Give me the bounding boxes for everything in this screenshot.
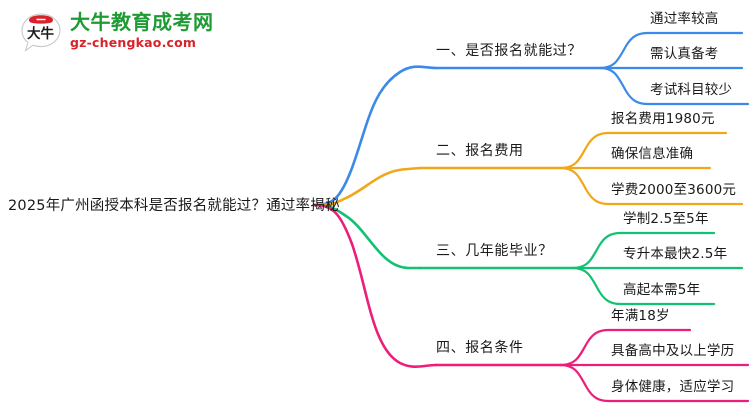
- leaf-node-1-2[interactable]: 需认真备考: [650, 45, 719, 64]
- branch-1-leaf-1-wire: [600, 33, 648, 68]
- branch-1-trunk: [314, 67, 436, 205]
- leaf-node-2-2[interactable]: 确保信息准确: [611, 145, 693, 164]
- branch-3-leaf-3-wire: [572, 268, 621, 304]
- leaf-node-4-2[interactable]: 具备高中及以上学历: [611, 342, 734, 361]
- logo-title-cn: 大牛教育成考网: [70, 9, 250, 35]
- site-logo[interactable]: 大牛 大牛教育成考网 gz-chengkao.com: [18, 8, 248, 60]
- branch-node-2[interactable]: 二、报名费用: [436, 141, 524, 161]
- leaf-node-1-3[interactable]: 考试科目较少: [650, 81, 732, 100]
- leaf-node-4-3[interactable]: 身体健康，适应学习: [611, 378, 734, 397]
- branch-3-leaf-1-wire: [572, 233, 621, 268]
- leaf-node-3-1[interactable]: 学制2.5至5年: [623, 210, 709, 229]
- logo-title-en: gz-chengkao.com: [70, 35, 250, 51]
- leaf-node-2-3[interactable]: 学费2000至3600元: [611, 181, 736, 200]
- branch-2-leaf-3-wire: [560, 168, 609, 204]
- mindmap-root-node[interactable]: 2025年广州函授本科是否报名就能过？通过率揭秘: [8, 196, 340, 216]
- branch-1-leaf-3-wire: [600, 68, 648, 104]
- branch-4-leaf-3-wire: [560, 365, 609, 401]
- leaf-node-2-1[interactable]: 报名费用1980元: [611, 110, 715, 129]
- mindmap-canvas: 大牛 大牛教育成考网 gz-chengkao.com 2025年广州函授本科是否…: [0, 0, 750, 410]
- speech-bubble-daniu-icon: 大牛: [18, 10, 64, 56]
- leaf-node-4-1[interactable]: 年满18岁: [611, 307, 670, 326]
- branch-4-wires: [314, 205, 748, 401]
- branch-node-3[interactable]: 三、几年能毕业？: [436, 241, 553, 261]
- branch-4-trunk: [314, 205, 436, 367]
- logo-wordmark: 大牛教育成考网 gz-chengkao.com: [70, 9, 250, 51]
- leaf-node-3-3[interactable]: 高起本需5年: [623, 281, 700, 300]
- branch-2-leaf-1-wire: [560, 133, 609, 168]
- branch-4-leaf-1-wire: [560, 330, 609, 365]
- branch-node-4[interactable]: 四、报名条件: [436, 338, 524, 358]
- svg-text:大牛: 大牛: [27, 25, 54, 42]
- leaf-node-3-2[interactable]: 专升本最快2.5年: [623, 245, 727, 264]
- leaf-node-1-1[interactable]: 通过率较高: [650, 10, 719, 29]
- branch-node-1[interactable]: 一、是否报名就能过？: [436, 41, 582, 61]
